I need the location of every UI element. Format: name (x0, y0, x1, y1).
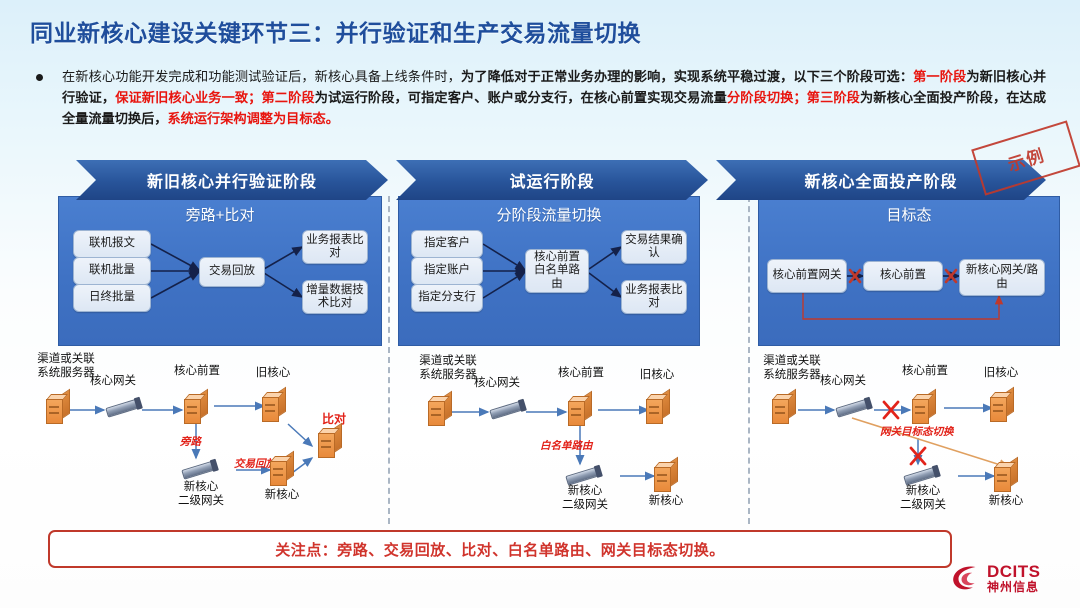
bullet-seg-2: 为了降低对于正常业务办理的影响，实现系统平稳过渡，以下三个阶段可选： (461, 69, 913, 84)
bullet-seg-9: 第三阶段 (807, 90, 860, 105)
server-diagram-phase-2: 渠道或关联 系统服务器 核心网关 核心前置 旧核心 白名单路由 新核心 二级网关… (392, 352, 748, 524)
bullet-seg-8: 分阶段切换； (727, 90, 807, 105)
page-title: 同业新核心建设关键环节三：并行验证和生产交易流量切换 (30, 14, 641, 48)
diagram2-label-frontend: 核心前置 (546, 366, 616, 380)
diagram3-annotation-switch: 网关目标态切换 (880, 424, 954, 439)
panel1-input-1: 联机报文 (73, 230, 151, 258)
server-icon-source-3 (772, 394, 796, 424)
diagram1-label-old-core: 旧核心 (240, 366, 306, 380)
diagram3-label-new-core: 新核心 (968, 494, 1044, 508)
gateway-icon-core-2 (488, 397, 525, 422)
diagram1-label-frontend: 核心前置 (162, 364, 232, 378)
dcits-mark-icon (950, 562, 984, 594)
server-icon-old-core-2 (646, 394, 670, 424)
bullet-seg-1: 在新核心功能开发完成和功能测试验证后，新核心具备上线条件时， (62, 69, 461, 84)
company-logo: DCITS 神州信息 (950, 556, 1070, 600)
panel1-output-1: 业务报表比对 (302, 230, 368, 264)
panel1-output-2: 增量数据技术比对 (302, 280, 368, 314)
panel2-input-3: 指定分支行 (411, 284, 483, 312)
bullet-dot-icon (36, 74, 43, 81)
panel2-output-1: 交易结果确认 (621, 230, 687, 264)
diagram1-label-new-core: 新核心 (244, 488, 320, 502)
server-icon-source-1 (46, 394, 70, 424)
phase-header-1: 新旧核心并行验证阶段 (76, 160, 388, 200)
logo-en-text: DCITS (987, 563, 1041, 580)
diagram3-label-frontend: 核心前置 (890, 364, 960, 378)
server-icon-old-core-1 (262, 392, 286, 422)
diagram1-label-compare: 比对 (322, 410, 346, 427)
key-points-callout: 关注点：旁路、交易回放、比对、白名单路由、网关目标态切换。 (48, 530, 952, 568)
server-icon-new-core-2 (654, 462, 678, 492)
diagram3-label-old-core: 旧核心 (968, 366, 1034, 380)
server-icon-new-core-1 (270, 456, 294, 486)
panel1-input-3: 日终批量 (73, 284, 151, 312)
bullet-paragraph: 在新核心功能开发完成和功能测试验证后，新核心具备上线条件时，为了降低对于正常业务… (36, 66, 1046, 129)
server-icon-compare-1 (318, 428, 342, 458)
bullet-seg-7: 为试运行阶段，可指定客户、账户或分支行，在核心前置实现交易流量 (315, 90, 727, 105)
logo-text: DCITS 神州信息 (987, 563, 1041, 594)
gateway-icon-core-1 (104, 395, 141, 420)
diagram2-label-gateway: 核心网关 (464, 376, 530, 390)
diagram3-label-new-gateway: 新核心 二级网关 (880, 484, 966, 512)
bullet-seg-11: 系统运行架构调整为目标态。 (168, 111, 339, 126)
panel2-output-2: 业务报表比对 (621, 280, 687, 314)
phase-header-2: 试运行阶段 (396, 160, 708, 200)
slide-root: 同业新核心建设关键环节三：并行验证和生产交易流量切换 在新核心功能开发完成和功能… (0, 0, 1080, 608)
panel3-node-2: 核心前置 (863, 261, 943, 291)
diagram1-label-new-gateway: 新核心 二级网关 (158, 480, 244, 508)
panel3-node-3: 新核心网关/路由 (959, 259, 1045, 296)
panel1-middle: 交易回放 (199, 257, 265, 287)
process-box-title-3: 目标态 (759, 204, 1059, 225)
bullet-text: 在新核心功能开发完成和功能测试验证后，新核心具备上线条件时，为了降低对于正常业务… (62, 66, 1046, 129)
diagram1-label-gateway: 核心网关 (80, 374, 146, 388)
bullet-seg-3: 第一阶段 (913, 69, 966, 84)
panel2-input-2: 指定账户 (411, 257, 483, 285)
panel1-input-2: 联机批量 (73, 257, 151, 285)
logo-cn-text: 神州信息 (987, 580, 1041, 594)
process-box-phase-1: 旁路+比对 联机报文 联机批量 日终批量 交易回放 业务报表比对 增量数据技术比… (58, 196, 382, 346)
server-icon-old-core-3 (990, 392, 1014, 422)
column-divider-2 (748, 196, 750, 524)
diagram2-annotation-whitelist: 白名单路由 (540, 438, 593, 453)
server-icon-frontend-1 (184, 394, 208, 424)
gateway-icon-new-secondary-1 (180, 457, 217, 482)
panel3-node-1: 核心前置网关 (767, 259, 847, 293)
server-diagram-phase-1: 渠道或关联 系统服务器 核心网关 核心前置 旧核心 旁路 新核心 二级网关 交易… (22, 352, 388, 524)
diagram1-annotation-bypass: 旁路 (180, 434, 201, 449)
process-box-phase-3: 目标态 核心前置网关 核心前置 新核心 (758, 196, 1060, 346)
column-divider-1 (388, 196, 390, 524)
server-icon-frontend-2 (568, 396, 592, 426)
panel2-input-1: 指定客户 (411, 230, 483, 258)
process-box-phase-2: 分阶段流量切换 指定客户 指定账户 指定分支行 核心前置白名单路由 交易结果确认… (398, 196, 700, 346)
diagram3-label-gateway: 核心网关 (810, 374, 876, 388)
server-icon-source-2 (428, 396, 452, 426)
diagram2-label-old-core: 旧核心 (624, 368, 690, 382)
diagram2-label-new-gateway: 新核心 二级网关 (542, 484, 628, 512)
server-diagram-phase-3: 渠道或关联 系统服务器 核心网关 核心前置 旧核心 网关目标态切换 新核心 二级… (752, 352, 1080, 524)
bullet-seg-6: 第二阶段 (261, 90, 314, 105)
bullet-seg-5: 保证新旧核心业务一致； (115, 90, 261, 105)
diagram2-label-new-core: 新核心 (628, 494, 704, 508)
panel2-middle: 核心前置白名单路由 (525, 249, 589, 293)
gateway-icon-core-3 (834, 395, 871, 420)
server-icon-frontend-3 (912, 394, 936, 424)
process-box-title-1: 旁路+比对 (59, 204, 381, 225)
process-box-title-2: 分阶段流量切换 (399, 204, 699, 225)
server-icon-new-core-3 (994, 462, 1018, 492)
